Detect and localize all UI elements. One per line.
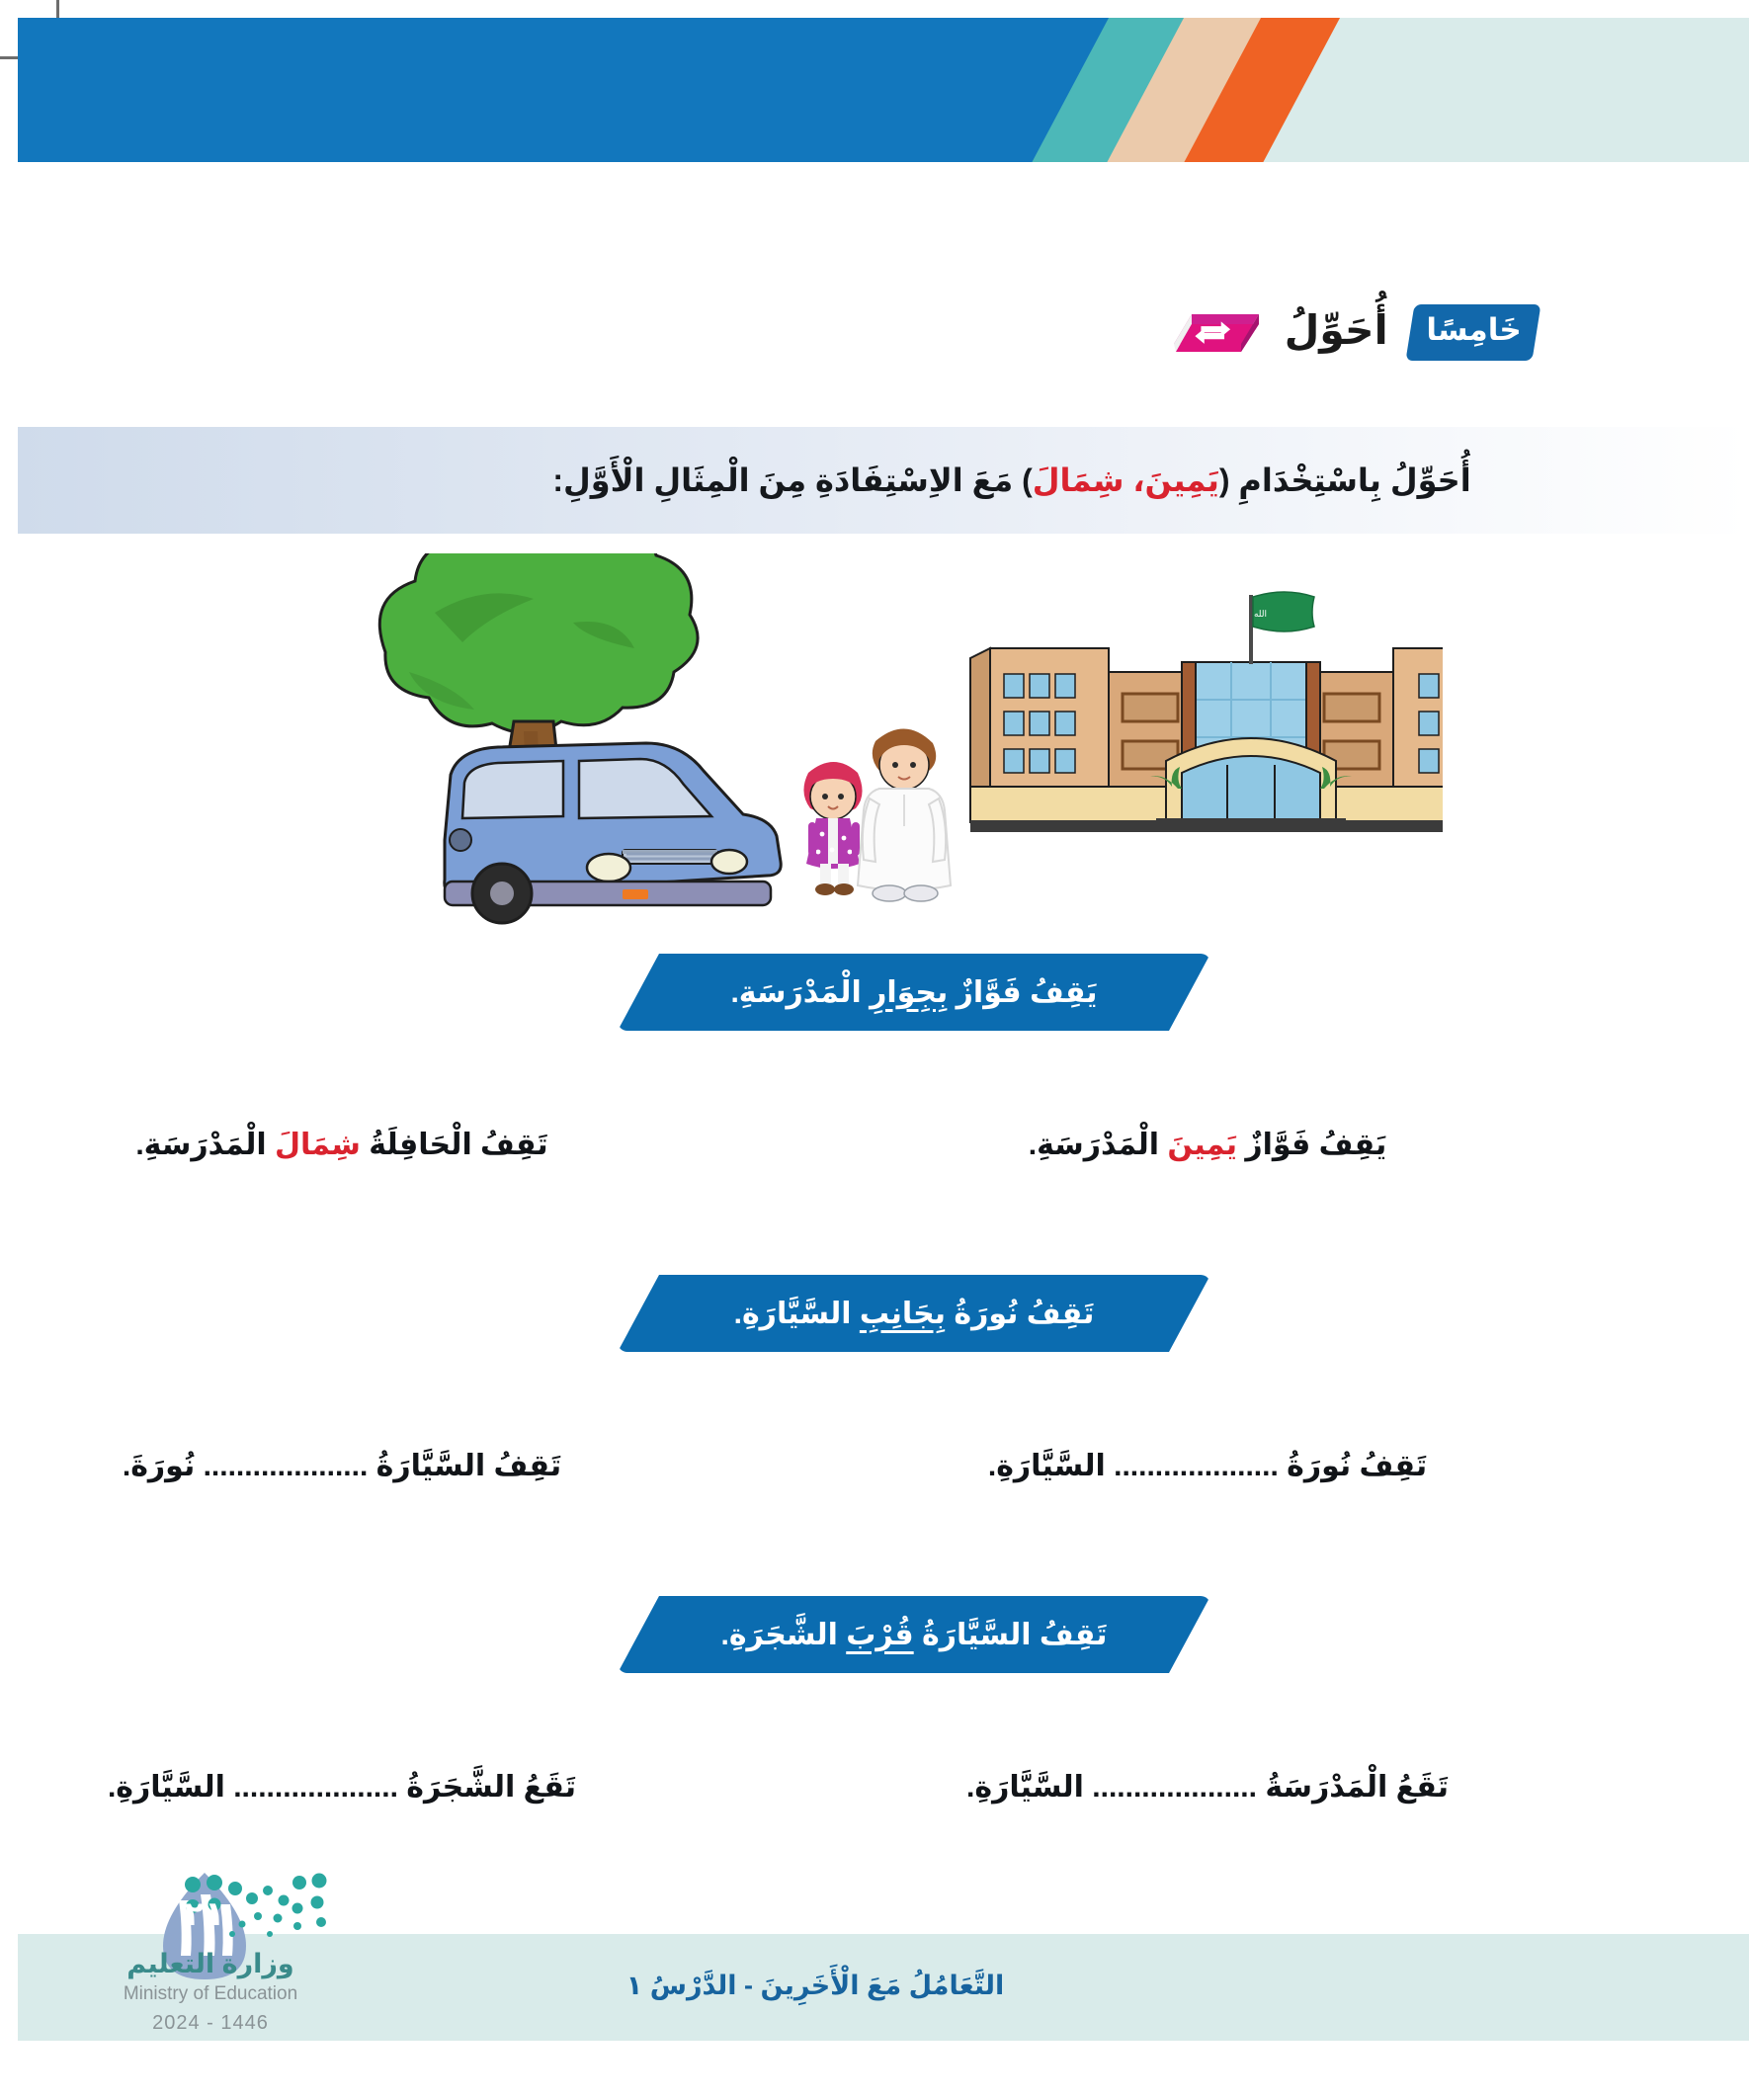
answer-row-1: يَقِفُ فَوَّازٌ يَمِينَ الْمَدْرَسَةِ. ت… <box>18 1115 1749 1174</box>
answer-2-left-after: نُورَةَ. <box>123 1450 204 1482</box>
answer-2-left-blank[interactable]: .................... <box>204 1450 369 1482</box>
answer-2-right-blank[interactable]: .................... <box>1114 1450 1279 1482</box>
girl-illustration <box>803 762 862 895</box>
school-building-illustration: الله <box>970 592 1443 832</box>
answer-1-right-highlight: يَمِينَ <box>1167 1129 1237 1161</box>
answer-3-left-blank[interactable]: .................... <box>233 1771 398 1804</box>
answer-3-right-after: السَّيَّارَةِ. <box>966 1771 1092 1804</box>
example-2-before: تَقِفُ نُورَةُ <box>946 1298 1094 1330</box>
example-3-before: تَقِفُ السَّيَّارَةُ <box>914 1619 1108 1651</box>
answer-3-left-after: السَّيَّارَةِ. <box>108 1771 233 1804</box>
answer-1-right[interactable]: يَقِفُ فَوَّازٌ يَمِينَ الْمَدْرَسَةِ. <box>775 1128 1749 1162</box>
car-illustration <box>445 743 781 923</box>
section-order-badge: خَامِسًا <box>1405 304 1541 361</box>
header-stripe-blue <box>18 18 1134 162</box>
answer-1-left-before: تَقِفُ الْحَافِلَةُ <box>361 1129 548 1161</box>
section-order-label: خَامِسًا <box>1426 314 1521 347</box>
example-1-before: يَقِفُ فَوَّازٌ <box>948 976 1097 1009</box>
instruction-after: ) مَعَ الاِسْتِفَادَةِ مِنَ الْمِثَالِ ا… <box>552 462 1032 498</box>
scene-illustration: الله <box>326 553 1443 939</box>
answer-2-left[interactable]: تَقِفُ السَّيَّارَةُ ...................… <box>0 1449 775 1483</box>
answer-row-3: تَقَعُ الْمَدْرَسَةُ ...................… <box>18 1757 1749 1816</box>
boy-illustration <box>858 728 951 901</box>
example-2-after: السَّيَّارَةِ. <box>734 1298 860 1330</box>
answer-2-right-before: تَقِفُ نُورَةُ <box>1279 1450 1427 1482</box>
svg-text:الله: الله <box>1254 609 1267 619</box>
example-banner-2: تَقِفُ نُورَةُ بِجَانِبِ السَّيَّارَةِ. <box>618 1275 1210 1352</box>
answer-2-left-before: تَقِفُ السَّيَّارَةُ <box>368 1450 561 1482</box>
page-header-band <box>18 18 1749 162</box>
answer-1-right-before: يَقِفُ فَوَّازٌ <box>1237 1129 1386 1161</box>
transform-book-icon <box>1168 300 1263 364</box>
section-title: أُحَوِّلُ <box>1285 306 1388 358</box>
ministry-name-arabic: وزارة التعليم <box>97 1949 324 1979</box>
answer-3-right-blank[interactable]: .................... <box>1092 1771 1257 1804</box>
answer-1-left[interactable]: تَقِفُ الْحَافِلَةُ شِمَالَ الْمَدْرَسَة… <box>0 1128 775 1162</box>
example-banner-3-text: تَقِفُ السَّيَّارَةُ قُرْبَ الشَّجَرَةِ. <box>720 1618 1107 1652</box>
answer-3-right-before: تَقَعُ الْمَدْرَسَةُ <box>1257 1771 1449 1804</box>
example-banner-1-text: يَقِفُ فَوَّازٌ بِجِوَارِ الْمَدْرَسَةِ. <box>730 975 1097 1010</box>
example-banner-3: تَقِفُ السَّيَّارَةُ قُرْبَ الشَّجَرَةِ. <box>618 1596 1210 1673</box>
instruction-before: أُحَوِّلُ بِاسْتِخْدَامِ ( <box>1219 462 1471 498</box>
example-3-underlined: قُرْبَ <box>846 1619 913 1651</box>
example-1-underlined: بِجِوَارِ <box>870 976 948 1009</box>
instruction-highlight: يَمِينَ، شِمَالَ <box>1033 462 1219 498</box>
answer-2-right[interactable]: تَقِفُ نُورَةُ .................... السَ… <box>775 1449 1749 1483</box>
answer-1-left-after: الْمَدْرَسَةِ. <box>135 1129 275 1161</box>
instruction-bar: أُحَوِّلُ بِاسْتِخْدَامِ (يَمِينَ، شِمَا… <box>18 427 1749 534</box>
answer-3-right[interactable]: تَقَعُ الْمَدْرَسَةُ ...................… <box>775 1770 1749 1805</box>
ministry-name-english: Ministry of Education <box>97 1983 324 2005</box>
textbook-page: خَامِسًا أُحَوِّلُ أُحَوِّلُ بِاسْتِخْدَ… <box>0 0 1749 2100</box>
ministry-logo-year: 2024 - 1446 <box>97 2012 324 2035</box>
answer-2-right-after: السَّيَّارَةِ. <box>988 1450 1114 1482</box>
answer-1-left-highlight: شِمَالَ <box>275 1129 361 1161</box>
example-1-after: الْمَدْرَسَةِ. <box>730 976 870 1009</box>
section-heading: خَامِسًا أُحَوِّلُ <box>1168 293 1537 372</box>
instruction-text: أُحَوِّلُ بِاسْتِخْدَامِ (يَمِينَ، شِمَا… <box>18 462 1749 499</box>
answer-3-left-before: تَقَعُ الشَّجَرَةُ <box>398 1771 576 1804</box>
example-banner-2-text: تَقِفُ نُورَةُ بِجَانِبِ السَّيَّارَةِ. <box>734 1297 1095 1331</box>
example-banner-1: يَقِفُ فَوَّازٌ بِجِوَارِ الْمَدْرَسَةِ. <box>618 954 1210 1031</box>
example-2-underlined: بِجَانِبِ <box>860 1298 946 1330</box>
answer-row-2: تَقِفُ نُورَةُ .................... السَ… <box>18 1436 1749 1495</box>
page-number: ٢١ <box>150 1894 259 1934</box>
answer-1-right-after: الْمَدْرَسَةِ. <box>1029 1129 1168 1161</box>
answer-3-left[interactable]: تَقَعُ الشَّجَرَةُ .................... … <box>0 1770 775 1805</box>
example-3-after: الشَّجَرَةِ. <box>720 1619 846 1651</box>
